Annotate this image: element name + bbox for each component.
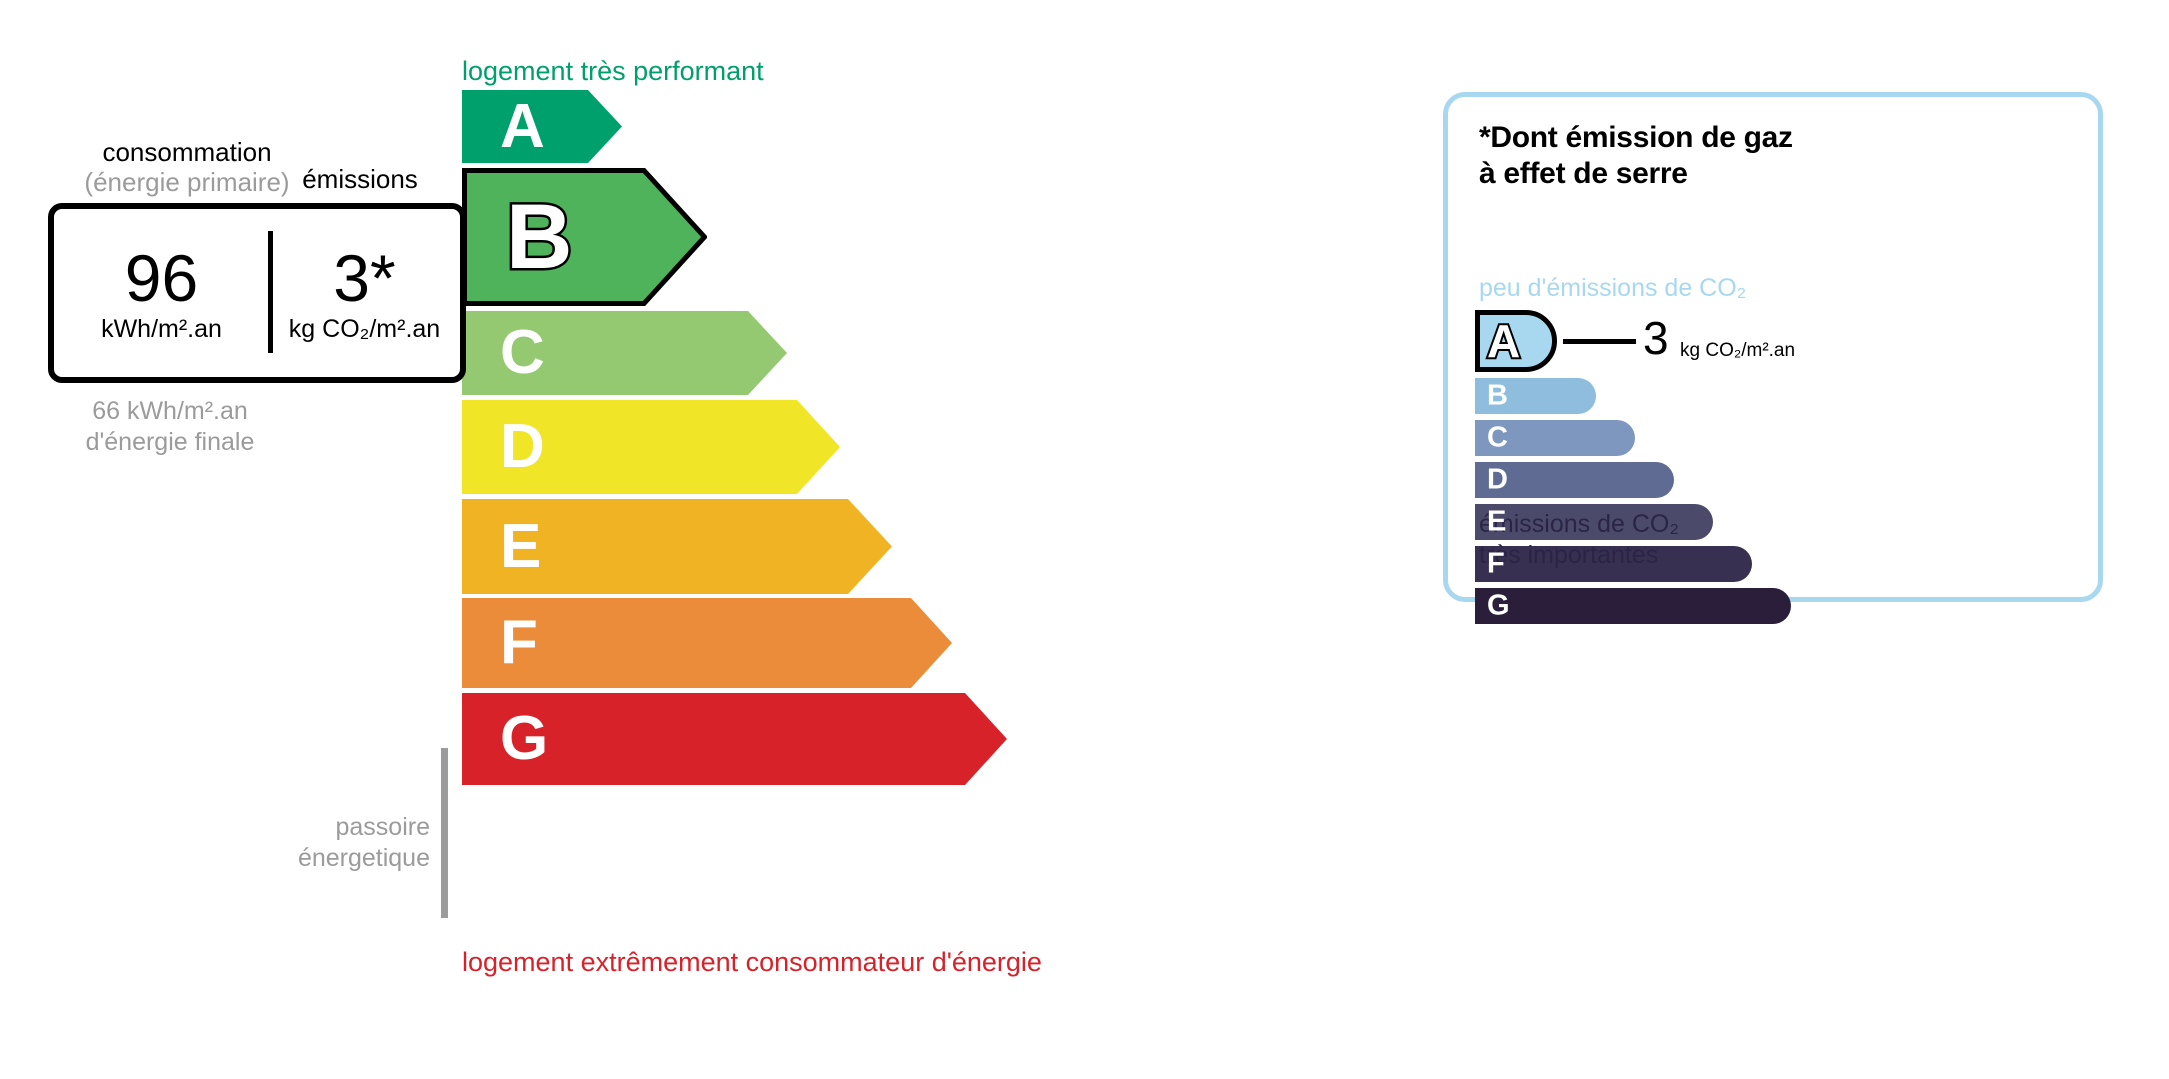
energy-band-e: E — [462, 499, 892, 594]
co2-top-caption: peu d'émissions de CO₂ — [1479, 274, 1746, 303]
co2-bar-shape-g — [1475, 588, 1791, 624]
co2-value: 3 — [1643, 315, 1669, 361]
co2-bar-letter-f: F — [1487, 550, 1505, 579]
consumption-label: consommation — [102, 137, 271, 167]
passoire-line1: passoire — [250, 812, 430, 843]
emissions-header: émissions — [290, 164, 430, 195]
co2-title-line2: à effet de serre — [1479, 156, 1793, 192]
emissions-unit: kg CO₂/m².an — [289, 317, 440, 342]
energy-band-letter-e: E — [500, 516, 541, 578]
energy-band-a: A — [462, 90, 622, 163]
energy-band-letter-b: B — [506, 191, 572, 283]
final-energy-value: 66 kWh/m².an — [70, 396, 270, 427]
co2-bar-letter-d: D — [1487, 466, 1508, 495]
energy-band-d: D — [462, 400, 840, 494]
passoire-line2: énergetique — [250, 843, 430, 874]
energy-band-letter-c: C — [500, 322, 545, 384]
energy-band-g: G — [462, 693, 1007, 785]
energy-band-letter-d: D — [500, 416, 545, 478]
final-energy-note: 66 kWh/m².an d'énergie finale — [70, 396, 270, 459]
co2-bar-letter-e: E — [1487, 508, 1506, 537]
energy-unit: kWh/m².an — [101, 317, 222, 342]
co2-bar-letter-g: G — [1487, 592, 1510, 621]
co2-panel: *Dont émission de gaz à effet de serre p… — [1443, 92, 2103, 602]
co2-bar-letter-b: B — [1487, 382, 1508, 411]
co2-bar-g: G — [1475, 588, 2075, 624]
energy-band-c: C — [462, 311, 787, 395]
co2-bottom-line1: émissions de CO₂ — [1479, 509, 1679, 540]
energy-performance-chart: consommation (énergie primaire) émission… — [0, 0, 1400, 1079]
co2-bottom-caption: émissions de CO₂ très importantes — [1479, 509, 1679, 572]
co2-bar-d: D — [1475, 462, 2075, 498]
co2-bar-a: A3kg CO₂/m².an — [1475, 310, 2075, 372]
emissions-value: 3* — [333, 245, 395, 311]
co2-panel-title: *Dont émission de gaz à effet de serre — [1479, 120, 1793, 192]
consumption-sublabel: (énergie primaire) — [62, 168, 312, 198]
energy-value-cell: 96 kWh/m².an — [54, 209, 269, 377]
energy-band-letter-f: F — [500, 612, 538, 674]
energy-band-b: B — [462, 168, 707, 306]
top-caption: logement très performant — [462, 56, 764, 87]
value-box: 96 kWh/m².an 3* kg CO₂/m².an — [48, 203, 466, 383]
consumption-header: consommation (énergie primaire) — [62, 138, 312, 198]
passoire-label: passoire énergetique — [250, 812, 430, 875]
co2-connector-line — [1563, 339, 1636, 344]
passoire-bracket — [441, 748, 448, 918]
co2-bar-letter-a: A — [1487, 318, 1520, 364]
co2-bar-letter-c: C — [1487, 424, 1508, 453]
co2-value-unit: kg CO₂/m².an — [1680, 341, 1795, 360]
energy-band-shape-b — [462, 168, 707, 306]
co2-title-line1: *Dont émission de gaz — [1479, 120, 1793, 156]
energy-band-letter-a: A — [500, 96, 545, 158]
energy-band-letter-g: G — [500, 708, 548, 770]
emissions-value-cell: 3* kg CO₂/m².an — [269, 209, 460, 377]
bottom-caption: logement extrêmement consommateur d'éner… — [462, 947, 1042, 978]
co2-bar-list: A3kg CO₂/m².anBCDEFG — [1475, 310, 2075, 630]
final-energy-label: d'énergie finale — [70, 427, 270, 458]
co2-bottom-line2: très importantes — [1479, 540, 1679, 571]
energy-value: 96 — [125, 245, 198, 311]
co2-bar-b: B — [1475, 378, 2075, 414]
energy-band-f: F — [462, 598, 952, 688]
co2-bar-c: C — [1475, 420, 2075, 456]
